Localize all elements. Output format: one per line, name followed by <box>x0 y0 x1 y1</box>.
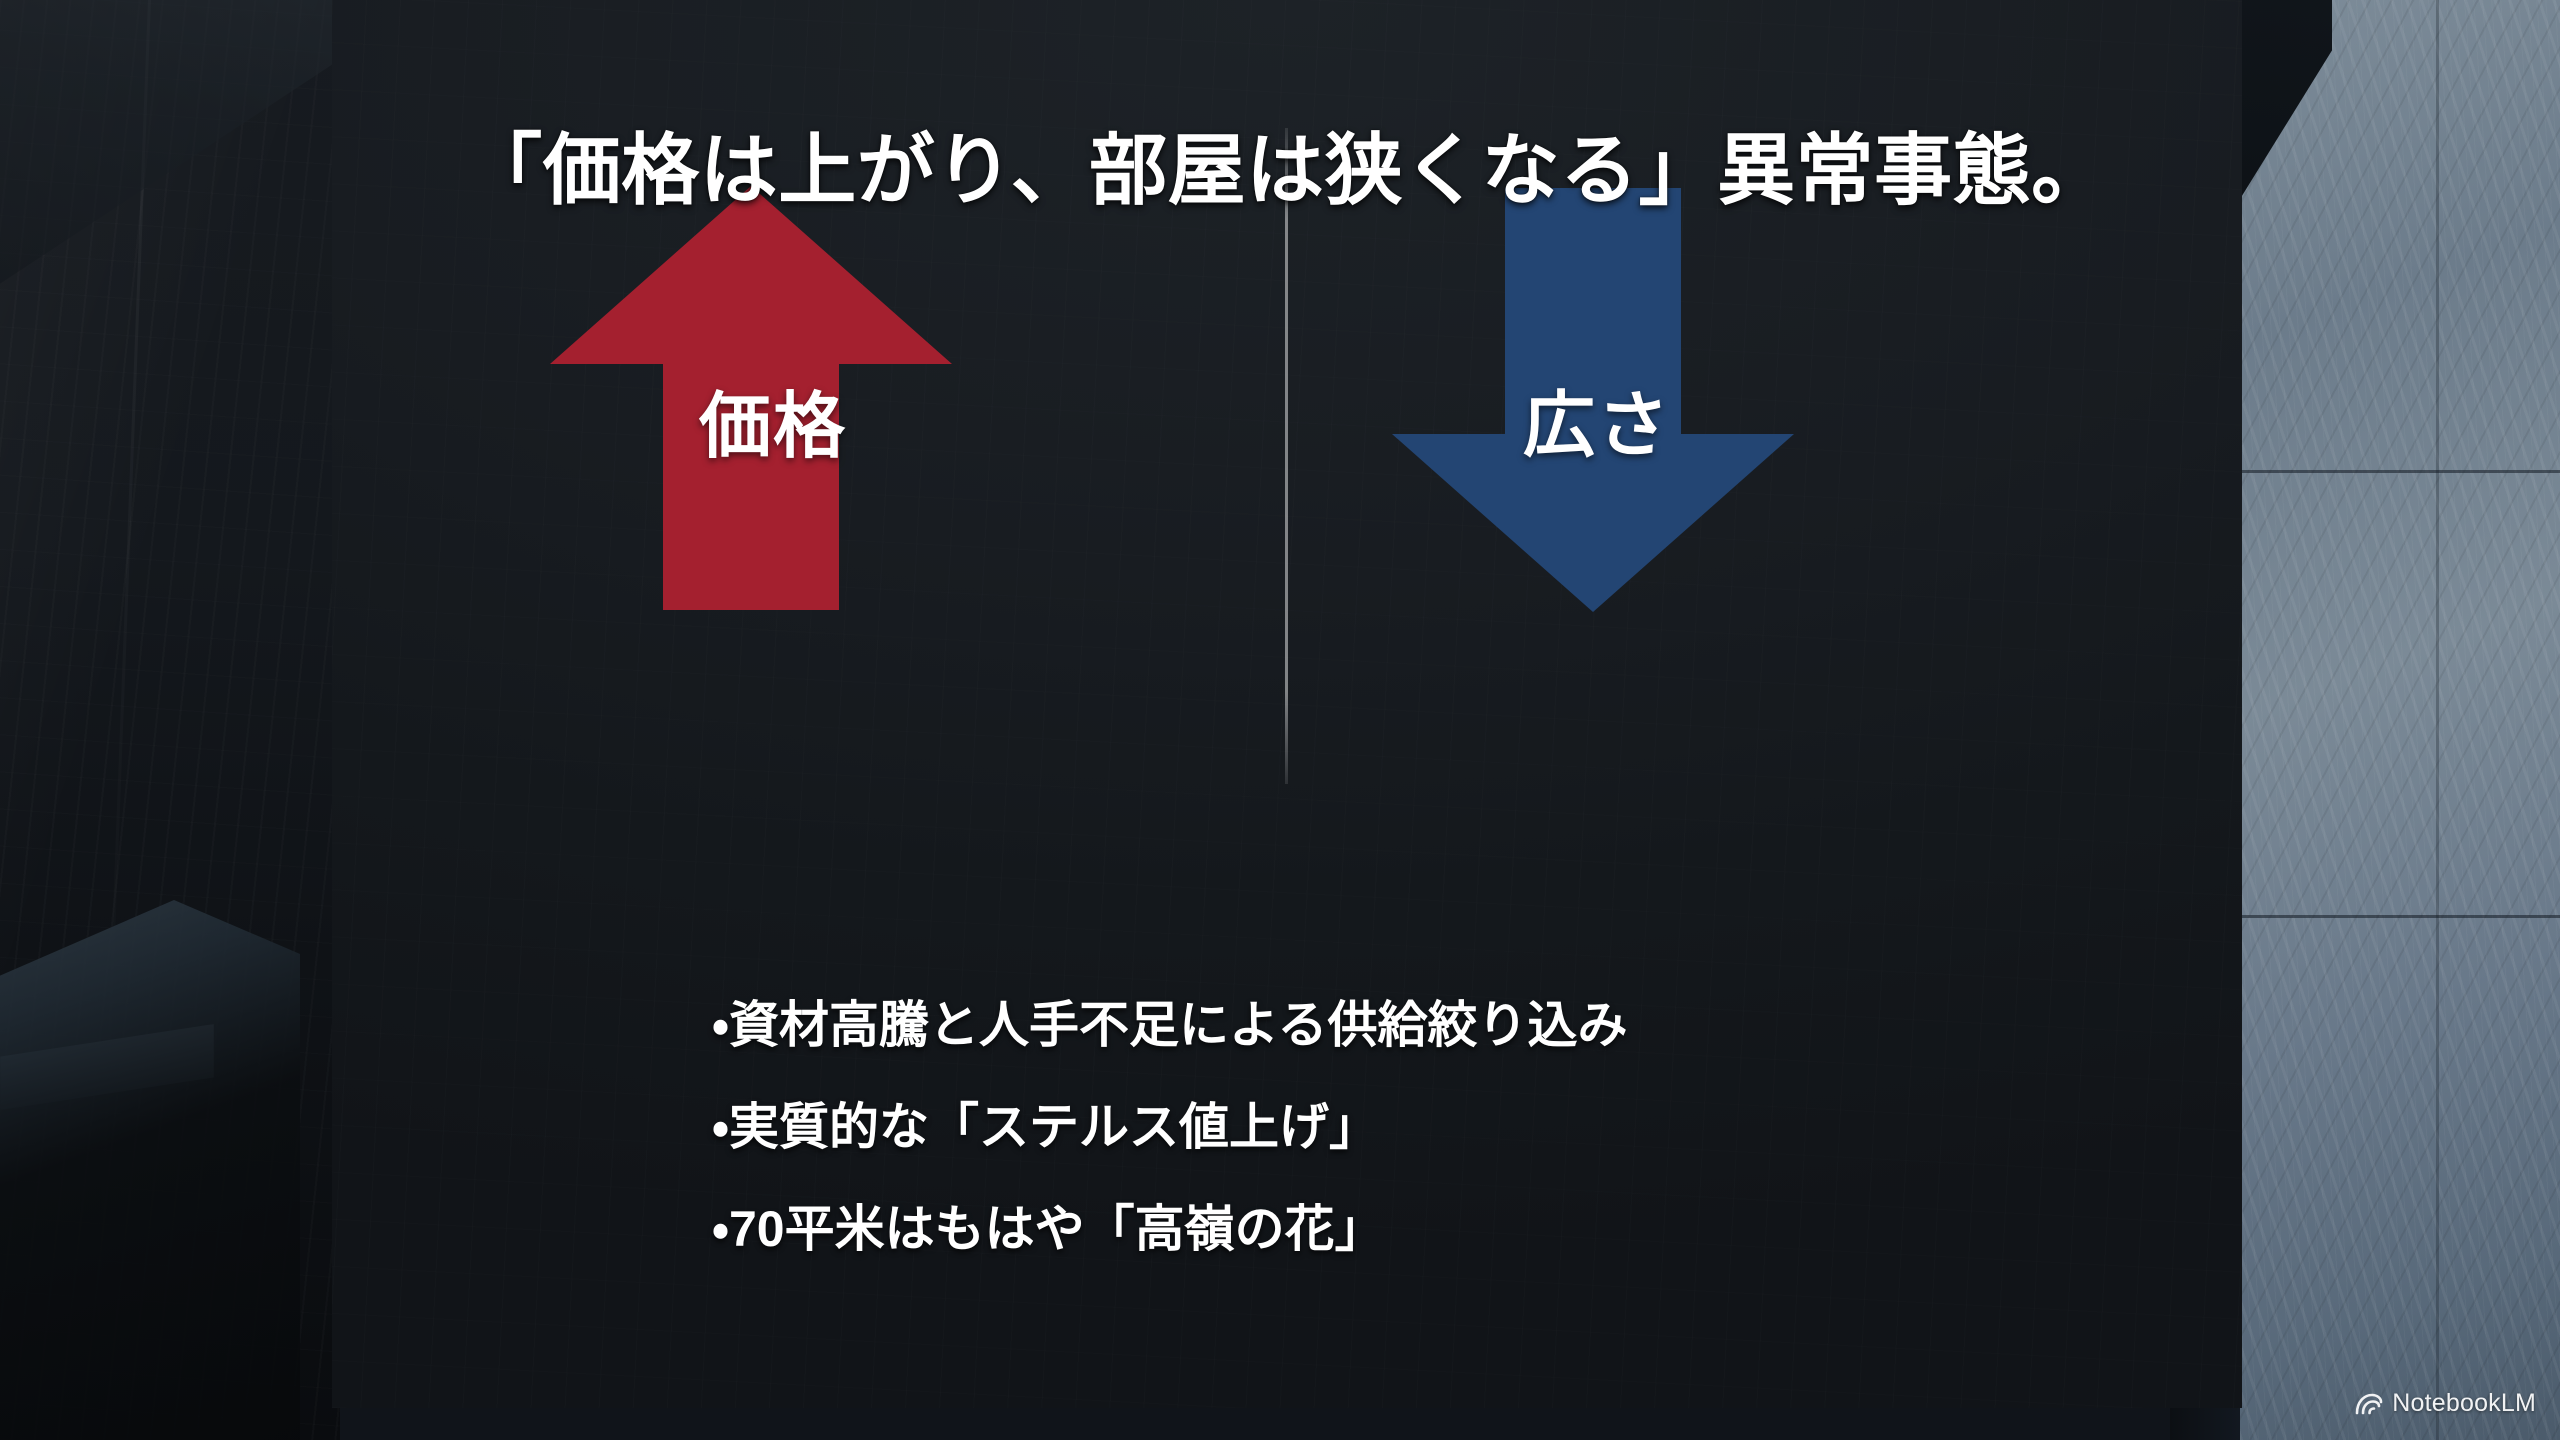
up-arrow-shape <box>546 182 956 612</box>
slide-stage: 「価格は上がり、部屋は狭くなる」異常事態。 価格 広さ ・資材高騰と人手不足によ… <box>0 0 2560 1440</box>
right-stone-wall <box>2240 0 2560 1440</box>
notebooklm-watermark: NotebookLM <box>2355 1389 2536 1418</box>
stone-seam-lower <box>2240 915 2560 918</box>
bullet-list: ・資材高騰と人手不足による供給絞り込み ・実質的な「ステルス値上げ」 ・70平米… <box>712 1000 1628 1254</box>
price-up-arrow: 価格 <box>546 182 956 612</box>
presentation-slide: 「価格は上がり、部屋は狭くなる」異常事態。 価格 広さ ・資材高騰と人手不足によ… <box>332 0 2242 1408</box>
stone-seam-upper <box>2240 470 2560 473</box>
list-item: ・70平米はもはや「高嶺の花」 <box>712 1204 1628 1254</box>
notebooklm-watermark-label: NotebookLM <box>2392 1389 2536 1418</box>
slide-headline: 「価格は上がり、部屋は狭くなる」異常事態。 <box>332 130 2242 212</box>
down-arrow-shape <box>1388 186 1798 616</box>
size-down-arrow: 広さ <box>1388 186 1798 616</box>
notebooklm-logo-icon <box>2355 1392 2383 1416</box>
list-item: ・実質的な「ステルス値上げ」 <box>712 1102 1628 1152</box>
list-item: ・資材高騰と人手不足による供給絞り込み <box>712 1000 1628 1050</box>
stone-seam-vertical <box>2436 0 2439 1440</box>
arrow-comparison-graphic: 価格 広さ <box>332 182 2242 612</box>
left-dark-slab <box>0 900 300 1440</box>
